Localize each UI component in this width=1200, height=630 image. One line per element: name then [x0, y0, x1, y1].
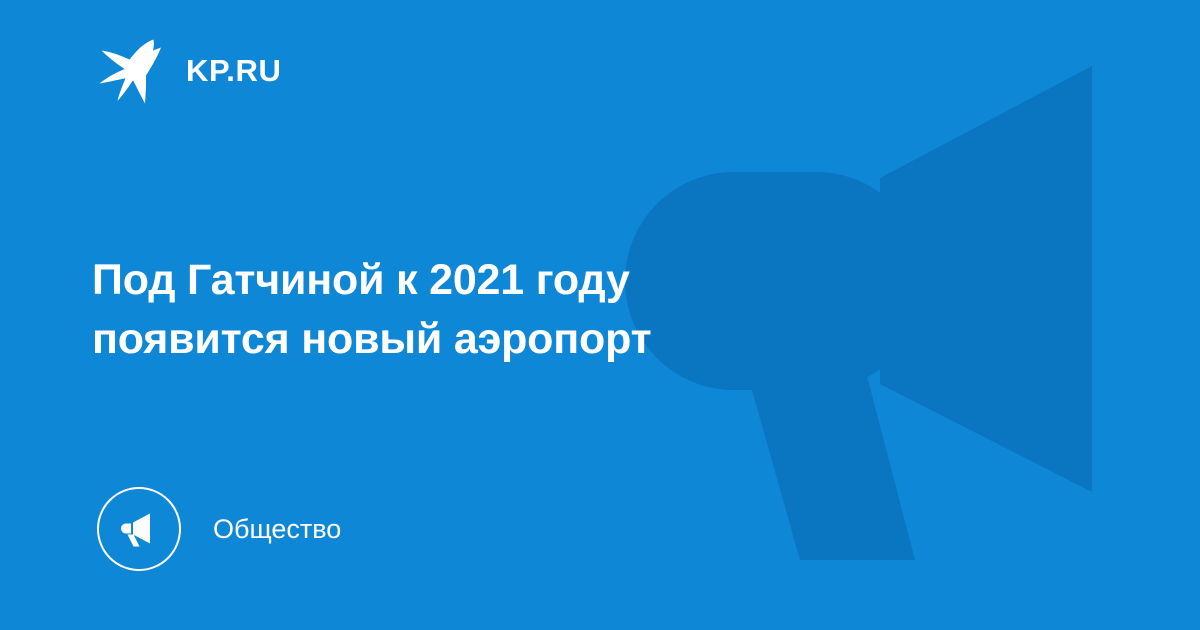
page-title-line-1: Под Гатчиной к 2021 году [92, 251, 882, 310]
category-label: Общество [213, 516, 341, 543]
swallow-bird-icon [92, 34, 164, 106]
social-share-card: KP.RU Под Гатчиной к 2021 году появится … [0, 0, 1200, 630]
category-badge[interactable]: Общество [97, 487, 341, 571]
page-title: Под Гатчиной к 2021 году появится новый … [92, 251, 882, 370]
megaphone-icon [117, 507, 161, 551]
page-title-line-2: появится новый аэропорт [92, 310, 882, 369]
category-icon-ring [97, 487, 181, 571]
brand-logo[interactable]: KP.RU [92, 32, 281, 108]
brand-name: KP.RU [186, 55, 281, 86]
